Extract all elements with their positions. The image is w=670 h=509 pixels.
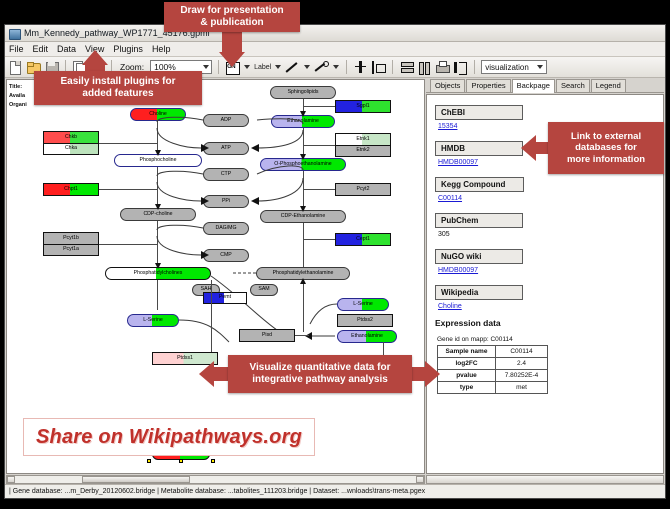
toolbar-divider (392, 60, 393, 74)
expr-key-log2fc: log2FC (438, 358, 496, 370)
gene-row-chkb: Chkb (44, 132, 98, 144)
tab-search[interactable]: Search (556, 79, 590, 92)
tab-backpage[interactable]: Backpage (512, 79, 555, 93)
gene-box-sgpl1[interactable]: Sgpl1 (335, 100, 391, 113)
panel-tab-row: Objects Properties Backpage Search Legen… (426, 79, 664, 93)
scroll-left-arrow-icon[interactable] (7, 476, 15, 483)
pathway-canvas[interactable]: Title: Availa Organi Sphingolipids Ethan… (6, 79, 425, 474)
callout-plugins-line1: Easily install plugins for (60, 76, 175, 88)
align-top-icon[interactable] (353, 60, 368, 75)
db-header-chebi: ChEBI (435, 105, 523, 120)
tab-legend[interactable]: Legend (591, 79, 626, 92)
callout-plugins-arrow (82, 50, 108, 65)
gene-box-pemt[interactable]: Pemt (203, 292, 247, 304)
stack-vertical-icon[interactable] (399, 60, 414, 75)
align-left-icon[interactable] (371, 60, 386, 75)
gene-row-pcyt2: Pcyt2 (336, 184, 390, 195)
table-row: pvalue 7.80252E-4 (438, 370, 548, 382)
db-value-pubchem: 305 (438, 231, 655, 238)
gene-box-cept1[interactable]: Cept1 (335, 233, 391, 246)
gene-row-pcyt1b: Pcyt1b (44, 233, 98, 245)
edge-pe-down (303, 304, 304, 332)
visualization-value: visualization (485, 63, 529, 72)
gene-row-etnk2: Etnk2 (336, 146, 390, 157)
callout-link-line1: Link to external (571, 131, 641, 143)
table-row: type met (438, 382, 548, 394)
expr-key-type: type (438, 382, 496, 394)
chevron-down-icon (537, 65, 543, 69)
callout-link-line3: more information (567, 154, 645, 166)
menu-item-plugins[interactable]: Plugins (113, 44, 143, 54)
menu-item-edit[interactable]: Edit (33, 44, 49, 54)
edge-pisd-link (295, 335, 309, 336)
expression-data-heading: Expression data (435, 318, 655, 328)
callout-visualize-line2: integrative pathway analysis (252, 374, 388, 386)
db-header-hmdb: HMDB (435, 141, 523, 156)
stack-horizontal-icon[interactable] (417, 60, 432, 75)
title-bar: Mm_Kennedy_pathway_WP1771_45176.gpml (5, 25, 665, 42)
tab-properties[interactable]: Properties (466, 79, 510, 92)
db-link-nugo-wiki[interactable]: HMDB00097 (438, 267, 655, 274)
menu-item-data[interactable]: Data (57, 44, 76, 54)
callout-visualize-line1: Visualize quantitative data for (250, 362, 391, 374)
edge-pcyt2-link (303, 189, 335, 190)
status-bar: | Gene database: ...m_Derby_20120602.bri… (5, 484, 665, 498)
connector-icon[interactable] (314, 60, 329, 75)
gene-row-sgpl1: Sgpl1 (336, 101, 390, 112)
callout-visualize: Visualize quantitative data for integrat… (228, 355, 412, 393)
status-bar-text: | Gene database: ...m_Derby_20120602.bri… (9, 488, 425, 495)
tab-objects[interactable]: Objects (430, 79, 465, 92)
panel-horizontal-scrollbar[interactable] (426, 475, 664, 484)
edge-pcyt1-link (99, 244, 157, 245)
expr-value-log2fc: 2.4 (496, 358, 548, 370)
expr-value-pvalue: 7.80252E-4 (496, 370, 548, 382)
screenshot-root: Mm_Kennedy_pathway_WP1771_45176.gpml Fil… (0, 0, 670, 509)
table-row: Sample name C00114 (438, 346, 548, 358)
expr-key-pvalue: pvalue (438, 370, 496, 382)
callout-draw: Draw for presentation & publication (164, 2, 300, 32)
callout-plugins: Easily install plugins for added feature… (34, 71, 202, 105)
toolbar-divider (346, 60, 347, 74)
gene-box-chk[interactable]: Chkb Chka (43, 131, 99, 155)
expr-value-type: met (496, 382, 548, 394)
edge-sgpl1-link (303, 106, 335, 107)
edge-cept1-link (303, 239, 335, 240)
gene-box-pisd[interactable]: Pisd (239, 329, 295, 342)
callout-link-arrow (521, 135, 536, 161)
edge-pc-down (211, 280, 212, 352)
expression-table: Sample name C00114 log2FC 2.4 pvalue 7.8… (437, 345, 548, 394)
callout-visualize-arrow-right (425, 361, 440, 387)
pathway-drawing: Title: Availa Organi Sphingolipids Ethan… (7, 80, 424, 473)
gene-row-chka: Chka (44, 144, 98, 155)
gene-row-pisd: Pisd (240, 330, 294, 341)
table-row: log2FC 2.4 (438, 358, 548, 370)
resize-handle-se[interactable] (211, 459, 215, 463)
callout-link-line2: databases for (575, 142, 637, 154)
callout-share: Share on Wikipathways.org (23, 418, 315, 456)
app-icon (8, 28, 20, 39)
db-header-wikipedia: Wikipedia (435, 285, 523, 300)
toolbar-divider (474, 60, 475, 74)
scrollbar-row (5, 475, 665, 484)
db-link-wikipedia[interactable]: Choline (438, 303, 655, 310)
callout-draw-arrow-stem (222, 32, 242, 54)
callout-plugins-line2: added features (82, 88, 153, 100)
callout-link-databases: Link to external databases for more info… (548, 122, 664, 174)
gene-row-cept1: Cept1 (336, 234, 390, 245)
callout-draw-arrow (219, 52, 245, 67)
db-header-pubchem: PubChem (435, 213, 523, 228)
gene-id-on-mapp: Gene id on mapp: C00114 (437, 336, 655, 343)
callout-draw-line1: Draw for presentation (180, 5, 283, 17)
scroll-thumb[interactable] (82, 476, 190, 483)
canvas-horizontal-scrollbar[interactable] (6, 475, 425, 484)
gene-row-ptdss2: Ptdss2 (338, 315, 392, 326)
edge-chk-link (99, 143, 157, 144)
callout-visualize-arrow-left (199, 361, 214, 387)
callout-share-text: Share on Wikipathways.org (36, 426, 302, 449)
menu-item-file[interactable]: File (9, 44, 24, 54)
gene-box-ptdss2[interactable]: Ptdss2 (337, 314, 393, 327)
gene-row-chpt1: Chpt1 (44, 184, 98, 195)
line-icon[interactable] (285, 60, 300, 75)
new-file-icon[interactable] (8, 60, 23, 75)
db-header-kegg-compound: Kegg Compound (435, 177, 524, 192)
db-link-kegg-compound[interactable]: C00114 (438, 195, 655, 202)
resize-handle-s[interactable] (179, 459, 183, 463)
size-equal-icon[interactable] (435, 60, 450, 75)
gene-row-etnk1: Etnk1 (336, 134, 390, 146)
resize-handle-sw[interactable] (147, 459, 151, 463)
connector-dropdown-icon[interactable] (332, 60, 340, 74)
expr-key-sample-name: Sample name (438, 346, 496, 358)
expr-value-sample-name: C00114 (496, 346, 548, 358)
label-dropdown-icon[interactable] (274, 60, 282, 74)
chevron-down-icon (203, 65, 209, 69)
gene-box-pcyt1[interactable]: Pcyt1b Pcyt1a (43, 232, 99, 256)
edge-chpt1-link (99, 189, 157, 190)
gene-row-pcyt1a: Pcyt1a (44, 245, 98, 256)
label-tool-label: Label (254, 64, 271, 71)
callout-draw-line2: & publication (200, 17, 263, 29)
line-dropdown-icon[interactable] (303, 60, 311, 74)
edge-etnk-link (303, 145, 335, 146)
gene-box-pcyt2[interactable]: Pcyt2 (335, 183, 391, 196)
gene-box-etnk[interactable]: Etnk1 Etnk2 (335, 133, 391, 157)
bring-front-icon[interactable] (453, 60, 468, 75)
gene-box-chpt1[interactable]: Chpt1 (43, 183, 99, 196)
db-header-nugo-wiki: NuGO wiki (435, 249, 523, 264)
scroll-right-arrow-icon[interactable] (416, 476, 424, 483)
menu-item-help[interactable]: Help (152, 44, 171, 54)
visualization-combobox[interactable]: visualization (481, 60, 547, 74)
